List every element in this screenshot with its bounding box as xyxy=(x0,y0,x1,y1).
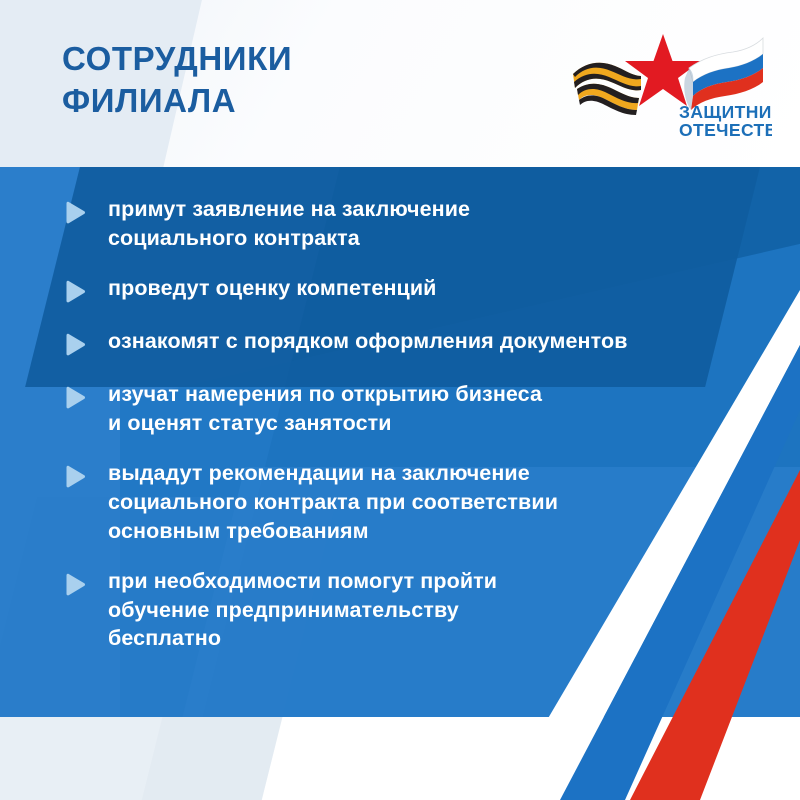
play-arrow-icon xyxy=(62,279,88,305)
header-banner: СОТРУДНИКИ ФИЛИАЛА xyxy=(0,0,800,167)
footer-band xyxy=(0,717,800,800)
play-arrow-icon xyxy=(62,200,88,226)
benefits-list: примут заявление на заключение социально… xyxy=(0,167,800,675)
content-panel: примут заявление на заключение социально… xyxy=(0,167,800,717)
play-arrow-icon xyxy=(62,572,88,598)
list-item: ознакомят с порядком оформления документ… xyxy=(0,327,800,358)
page-title: СОТРУДНИКИ ФИЛИАЛА xyxy=(62,38,292,122)
logo-line-2: ОТЕЧЕСТВА xyxy=(679,120,772,140)
poster-canvas: СОТРУДНИКИ ФИЛИАЛА xyxy=(0,0,800,800)
russian-flag-ribbon-icon xyxy=(684,38,763,110)
list-item-label: примут заявление на заключение социально… xyxy=(108,195,470,252)
list-item-label: проведут оценку компетенций xyxy=(108,274,436,303)
list-item-label: изучат намерения по открытию бизнеса и о… xyxy=(108,380,542,437)
list-item-label: ознакомят с порядком оформления документ… xyxy=(108,327,628,356)
list-item: изучат намерения по открытию бизнеса и о… xyxy=(0,380,800,437)
logo-line-1: ЗАЩИТНИКИ xyxy=(679,102,772,122)
list-item-label: выдадут рекомендации на заключение социа… xyxy=(108,459,558,545)
play-arrow-icon xyxy=(62,385,88,411)
list-item: выдадут рекомендации на заключение социа… xyxy=(0,459,800,545)
list-item: при необходимости помогут пройти обучени… xyxy=(0,567,800,653)
zashchitniki-otechestva-logo: ЗАЩИТНИКИ ОТЕЧЕСТВА xyxy=(567,26,772,141)
list-item: проведут оценку компетенций xyxy=(0,274,800,305)
play-arrow-icon xyxy=(62,332,88,358)
play-arrow-icon xyxy=(62,464,88,490)
st-george-ribbon-icon xyxy=(573,63,641,115)
list-item-label: при необходимости помогут пройти обучени… xyxy=(108,567,497,653)
list-item: примут заявление на заключение социально… xyxy=(0,195,800,252)
